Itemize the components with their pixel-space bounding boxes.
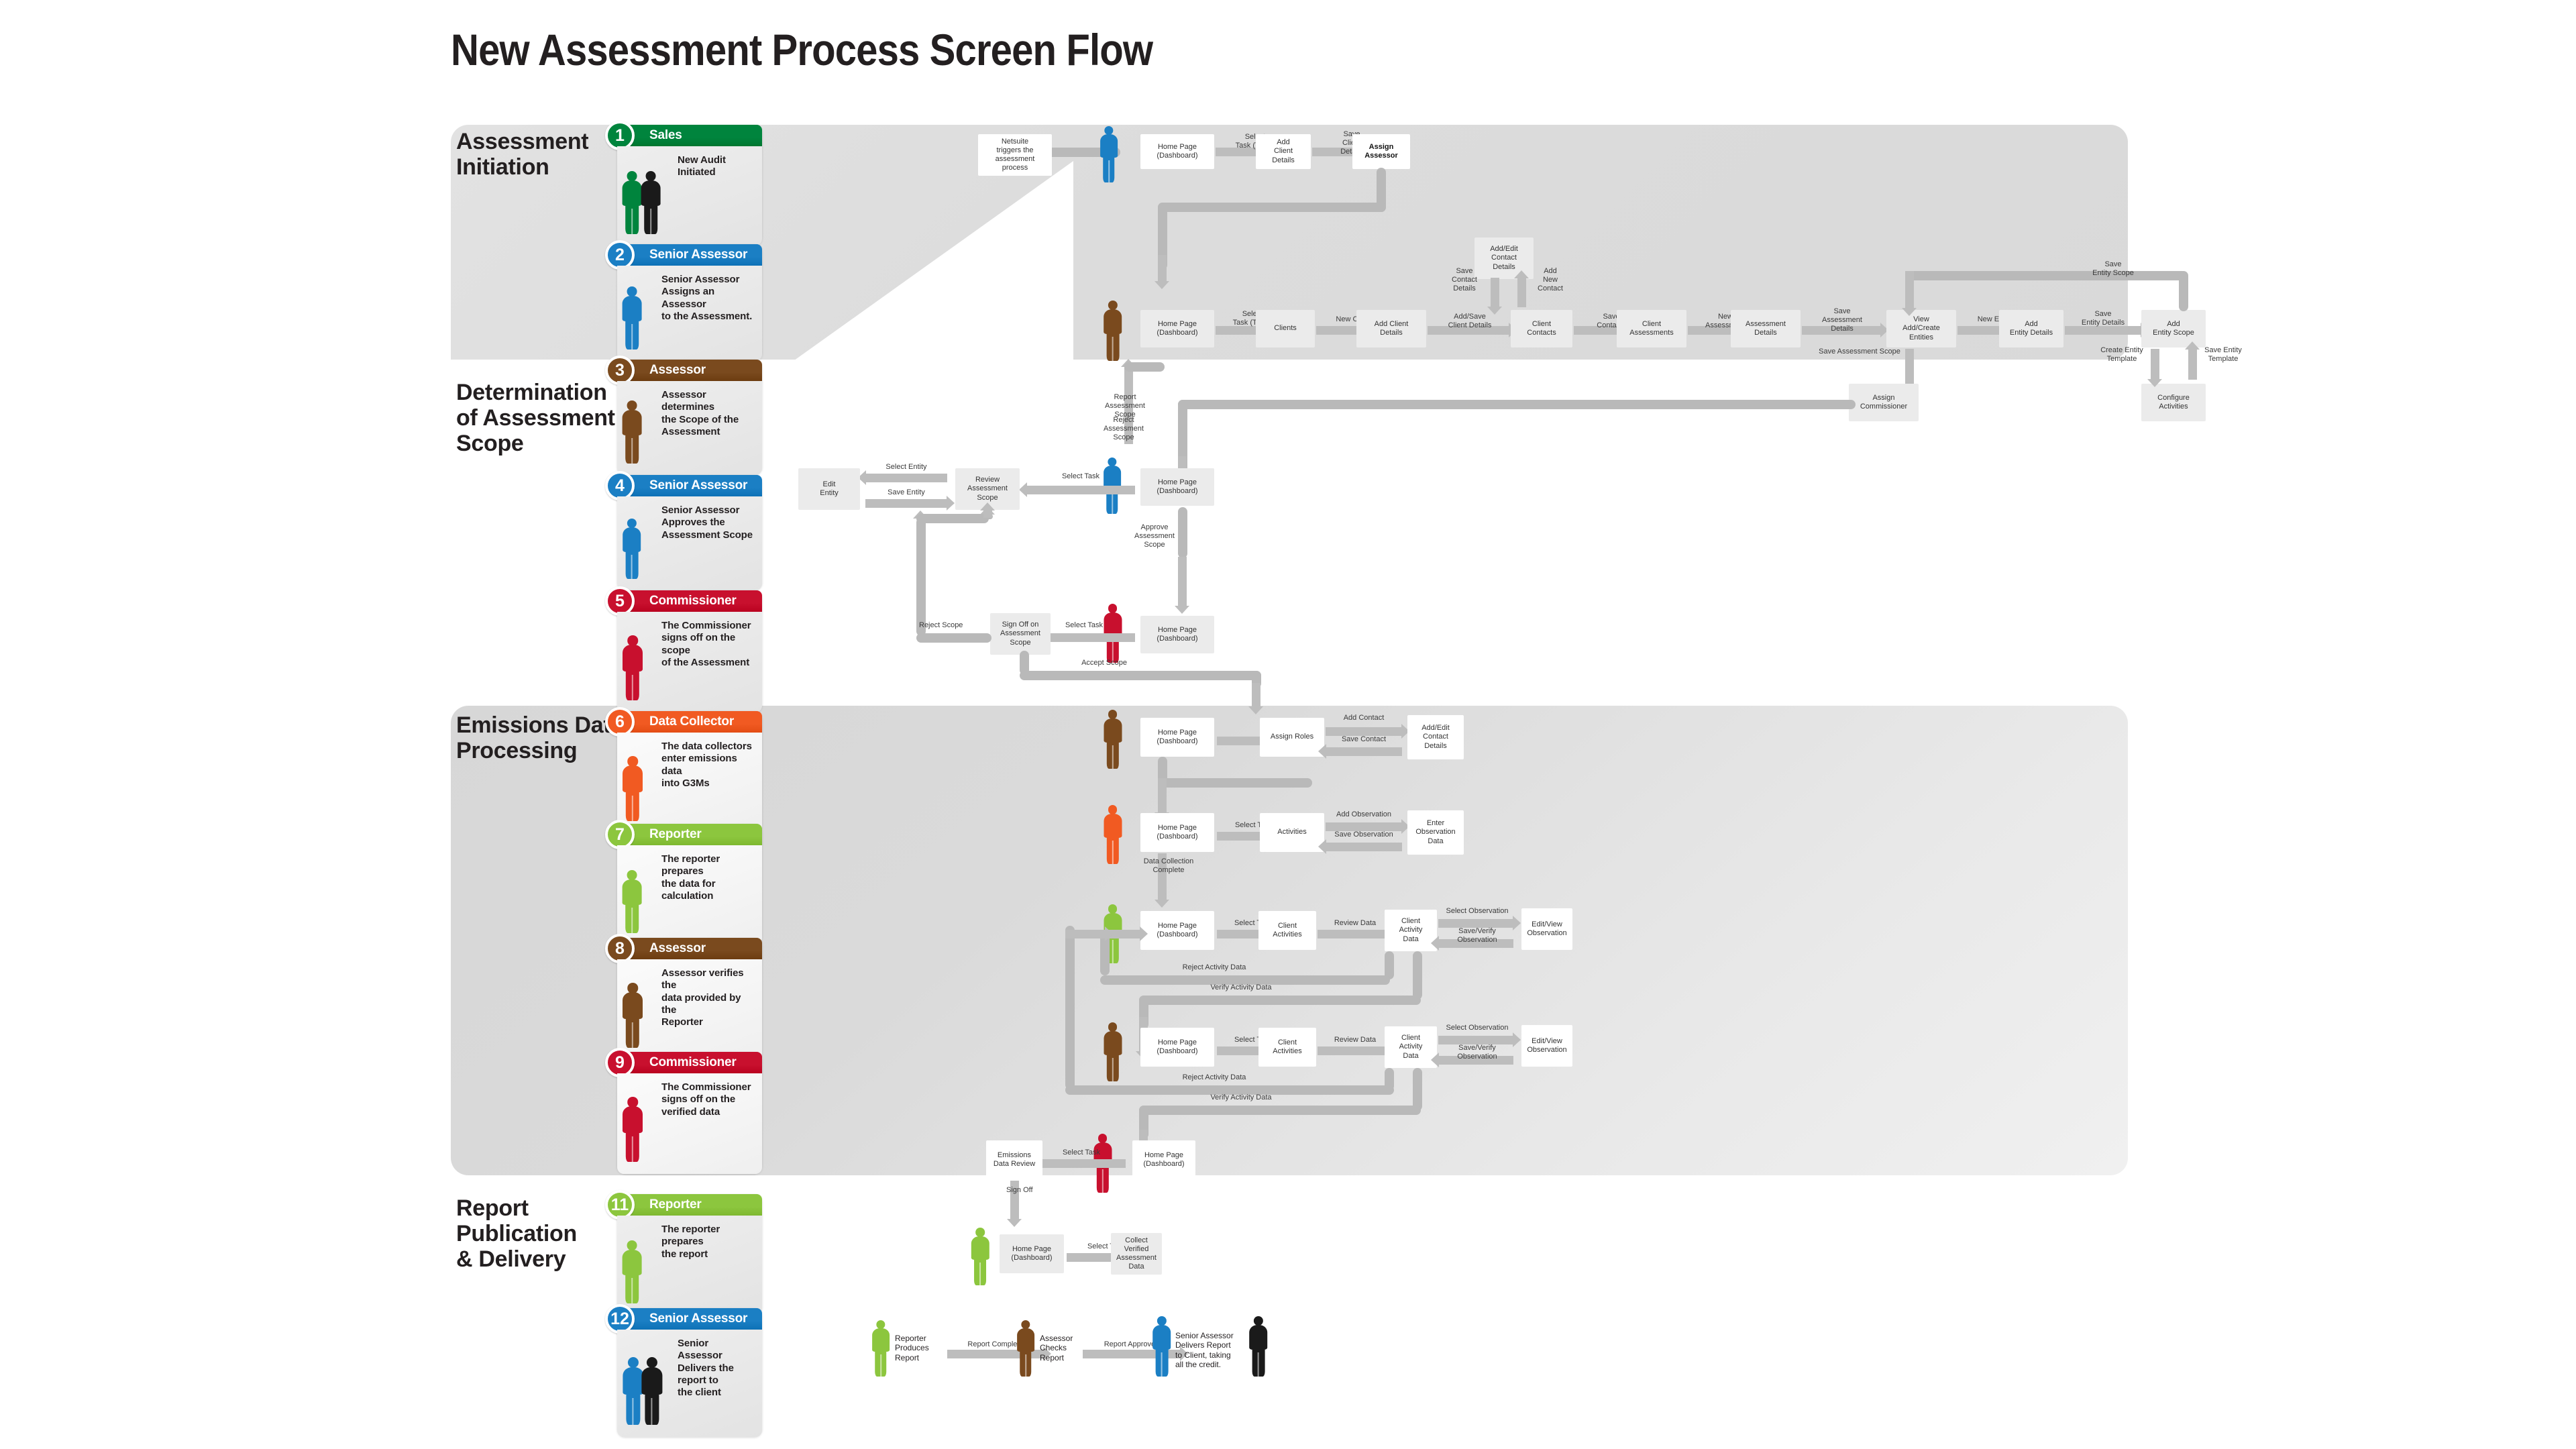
role-figure-slot-3 [623, 389, 661, 468]
edge-label-select-entity: Select Entity [865, 463, 947, 472]
role-card-body-8: Assessor verifies the data provided by t… [617, 959, 762, 1060]
person-legs [626, 1017, 639, 1048]
person-torso [1017, 1328, 1034, 1351]
flow-figure-blue [1152, 1316, 1171, 1381]
person-torso [1104, 718, 1122, 743]
person-figure-lightgreen [623, 870, 642, 934]
flow-node-add-edit-contact-details-2[interactable]: Add/Edit Contact Details [1407, 715, 1464, 759]
edge-label-save-entity: Save Entity [865, 488, 947, 497]
connector-pipe-h [1139, 996, 1421, 1005]
role-title-3: Assessor [649, 363, 706, 378]
role-description-11: The reporter prepares the report [661, 1224, 720, 1260]
connector-arrow-h [1318, 930, 1393, 938]
connector-pipe-h [1178, 400, 1856, 409]
role-description-6: The data collectors enter emissions data… [661, 741, 755, 790]
flow-node-sales-home-page[interactable]: Home Page (Dashboard) [1140, 134, 1214, 169]
flow-figure-blue [1100, 126, 1118, 187]
person-torso [623, 1106, 643, 1133]
role-title-12: Senior Assessor [649, 1311, 747, 1326]
edge-label-add-save-client-details: Add/Save Client Details [1421, 313, 1519, 330]
role-card-6[interactable]: 6 Data Collector The data collectors ent… [617, 711, 762, 833]
edge-label-create-entity-template: Create Entity Template [2093, 346, 2151, 364]
role-card-header-1: 1 Sales [617, 125, 762, 146]
role-title-6: Data Collector [649, 714, 734, 729]
role-card-body-6: The data collectors enter emissions data… [617, 733, 762, 833]
flow-caption-senior-assessor-delivers-report: Senior Assessor Delivers Report to Clien… [1175, 1331, 1253, 1370]
role-card-header-2: 2 Senior Assessor [617, 244, 762, 266]
flow-figure-brown [1017, 1320, 1034, 1381]
edge-label-verify-activity-data-7: Verify Activity Data [1181, 983, 1301, 992]
person-legs [1020, 1350, 1032, 1377]
role-figure-slot-7 [623, 853, 661, 938]
edge-label-data-collection-complete: Data Collection Complete [1134, 857, 1203, 875]
flow-node-emissions-data-review[interactable]: Emissions Data Review [986, 1140, 1042, 1179]
person-head [1157, 1316, 1167, 1326]
flow-node-edit-view-observation-7[interactable]: Edit/View Observation [1521, 908, 1572, 950]
person-legs [645, 1393, 659, 1426]
role-card-12[interactable]: 12 Senior Assessor Senior Assessor Deliv… [617, 1308, 762, 1437]
person-torso [1104, 1031, 1122, 1055]
connector-arrow-v [1158, 255, 1167, 282]
person-legs [1155, 1348, 1168, 1376]
person-figure-brown [1104, 710, 1122, 770]
person-figure-black [641, 171, 661, 235]
role-description-3: Assessor determines the Scope of the Ass… [661, 389, 755, 438]
role-figure-slot-8 [623, 967, 661, 1053]
flow-node-reporter-home-page[interactable]: Home Page (Dashboard) [1140, 911, 1214, 950]
person-figure-green [623, 171, 642, 235]
role-card-body-11: The reporter prepares the report [617, 1216, 762, 1315]
person-figure-black [641, 1357, 662, 1427]
role-card-header-8: 8 Assessor [617, 938, 762, 959]
role-title-1: Sales [649, 128, 682, 143]
person-head [627, 1097, 638, 1108]
connector-pipe-v [1413, 951, 1422, 1000]
role-card-4[interactable]: 4 Senior Assessor Senior Assessor Approv… [617, 475, 762, 590]
flow-node-enter-observation-data[interactable]: Enter Observation Data [1407, 810, 1464, 855]
person-torso [872, 1328, 890, 1351]
connector-arrow-h [865, 474, 947, 482]
role-description-12: Senior Assessor Delivers the report to t… [678, 1338, 755, 1399]
edge-label-reject-activity-data-8: Reject Activity Data [1154, 1073, 1275, 1082]
role-card-header-7: 7 Reporter [617, 824, 762, 845]
flow-node-client-activity-data-8[interactable]: Client Activity Data [1385, 1026, 1437, 1068]
edge-label-save-assessment-scope: Save Assessment Scope [1806, 347, 1913, 356]
edge-label-select-task-3: Select Task [1026, 472, 1135, 481]
connector-arrow-h [2065, 326, 2141, 335]
person-figure-lightgreen [623, 1240, 642, 1305]
person-torso [623, 1250, 642, 1275]
edge-label-save-entity-template: Save Entity Template [2195, 346, 2251, 364]
person-figure-lightgreen [872, 1320, 890, 1378]
edge-label-save-assessment-details: Save Assessment Details [1795, 307, 1889, 333]
role-card-2[interactable]: 2 Senior Assessor Senior Assessor Assign… [617, 244, 762, 361]
role-figure-slot-4 [623, 504, 661, 584]
person-legs [626, 790, 639, 821]
edge-label-add-new-contact: Add New Contact [1527, 267, 1574, 293]
role-title-9: Commissioner [649, 1055, 737, 1070]
person-head [646, 171, 656, 181]
flow-node-data-collector-home-page[interactable]: Home Page (Dashboard) [1140, 813, 1214, 852]
person-legs [625, 550, 638, 578]
person-torso [623, 1367, 643, 1395]
person-torso [1104, 814, 1122, 838]
person-head [1254, 1316, 1263, 1326]
person-head [1108, 301, 1118, 310]
person-figure-blue [623, 1357, 643, 1427]
flow-node-clients[interactable]: Clients [1256, 310, 1315, 347]
edge-label-save-contact-details: Save Contact Details [1436, 267, 1493, 293]
role-description-4: Senior Assessor Approves the Assessment … [661, 504, 753, 541]
connector-arrow-h [1326, 747, 1402, 756]
edge-label-review-data-8: Review Data [1318, 1036, 1393, 1044]
role-description-7: The reporter prepares the data for calcu… [661, 853, 755, 902]
person-head [627, 286, 637, 297]
flow-node-commissioner-data-home-page[interactable]: Home Page (Dashboard) [1132, 1140, 1195, 1179]
flow-figure-orange [1104, 805, 1122, 869]
connector-pipe-h [1124, 362, 1165, 372]
connector-arrow-h [1026, 486, 1135, 494]
person-torso [623, 296, 642, 321]
flow-node-sr-assessor-home-page[interactable]: Home Page (Dashboard) [1140, 468, 1214, 506]
role-card-8[interactable]: 8 Assessor Assessor verifies the data pr… [617, 938, 762, 1060]
flow-node-activities[interactable]: Activities [1260, 813, 1324, 852]
edge-label-sign-off: Sign Off [1006, 1186, 1063, 1195]
role-card-body-3: Assessor determines the Scope of the Ass… [617, 381, 762, 475]
edge-label-reject-activity-data-7: Reject Activity Data [1154, 963, 1275, 972]
role-figure-slot-1 [623, 154, 678, 239]
person-head [627, 400, 637, 411]
person-legs [1106, 332, 1119, 360]
person-legs [626, 1393, 640, 1426]
flow-node-assessment-details[interactable]: Assessment Details [1731, 310, 1801, 347]
role-card-3[interactable]: 3 Assessor Assessor determines the Scope… [617, 360, 762, 475]
flow-node-reporter-collect-home-page[interactable]: Home Page (Dashboard) [1000, 1234, 1064, 1273]
role-title-2: Senior Assessor [649, 248, 747, 262]
role-description-1: New Audit Initiated [678, 154, 726, 179]
person-figure-red [623, 1097, 643, 1164]
person-figure-blue [1152, 1316, 1171, 1378]
role-card-body-12: Senior Assessor Delivers the report to t… [617, 1330, 762, 1437]
edge-label-add-observation: Add Observation [1326, 810, 1402, 819]
connector-pipe-v [2179, 271, 2188, 311]
person-head [627, 171, 637, 181]
page-title: New Assessment Process Screen Flow [451, 24, 1152, 75]
person-figure-brown [1017, 1320, 1034, 1378]
person-figure-lightgreen [971, 1228, 989, 1287]
person-head [627, 983, 638, 994]
flow-node-assign-roles[interactable]: Assign Roles [1260, 718, 1324, 757]
flow-node-client-contacts[interactable]: Client Contacts [1511, 310, 1572, 347]
role-description-2: Senior Assessor Assigns an Assessor to t… [661, 274, 755, 323]
flow-node-view-add-create-entities[interactable]: View Add/Create Entities [1886, 310, 1956, 347]
role-card-7[interactable]: 7 Reporter The reporter prepares the dat… [617, 824, 762, 945]
flow-figure-brown [1104, 301, 1122, 366]
person-torso [1152, 1325, 1171, 1350]
person-legs [626, 903, 639, 932]
person-head [627, 519, 637, 528]
role-card-9[interactable]: 9 Commissioner The Commissioner signs of… [617, 1052, 762, 1174]
flow-figure-black [1249, 1316, 1268, 1381]
person-figure-brown [623, 983, 643, 1050]
role-card-body-2: Senior Assessor Assigns an Assessor to t… [617, 266, 762, 361]
role-figure-slot-6 [623, 741, 661, 826]
flow-figure-brown [1104, 1022, 1122, 1086]
person-torso [641, 180, 661, 206]
role-card-header-3: 3 Assessor [617, 360, 762, 381]
person-head [627, 635, 638, 646]
connector-pipe-h [1158, 203, 1386, 212]
edge-label-approve-assessment-scope: Approve Assessment Scope [1126, 523, 1183, 549]
person-legs [1103, 156, 1115, 182]
connector-arrow-v [1252, 683, 1260, 707]
person-legs [875, 1350, 887, 1377]
role-description-8: Assessor verifies the data provided by t… [661, 967, 755, 1028]
connector-pipe-h [1139, 1106, 1421, 1115]
role-card-body-7: The reporter prepares the data for calcu… [617, 845, 762, 945]
role-card-header-6: 6 Data Collector [617, 711, 762, 733]
flow-node-client-activities-7[interactable]: Client Activities [1258, 911, 1316, 950]
person-legs [1106, 1053, 1118, 1081]
role-title-7: Reporter [649, 827, 702, 842]
role-card-header-4: 4 Senior Assessor [617, 475, 762, 496]
role-card-body-5: The Commissioner signs off on the scope … [617, 612, 762, 712]
role-card-header-9: 9 Commissioner [617, 1052, 762, 1073]
role-title-5: Commissioner [649, 594, 737, 608]
person-legs [645, 204, 658, 233]
role-title-11: Reporter [649, 1197, 702, 1212]
connector-arrow-v [1178, 557, 1187, 606]
edge-label-verify-activity-data-8: Verify Activity Data [1181, 1093, 1301, 1102]
flow-node-edit-view-observation-8[interactable]: Edit/View Observation [1521, 1025, 1572, 1067]
connector-arrow-v [1905, 271, 1914, 309]
edge-label-save-entity-scope: Save Entity Scope [2073, 260, 2153, 278]
role-figure-slot-11 [623, 1224, 661, 1308]
person-torso [623, 410, 642, 435]
person-torso [623, 992, 643, 1019]
person-figure-blue [1100, 126, 1118, 184]
role-card-1[interactable]: 1 Sales New Audit Initiated [617, 125, 762, 246]
connector-pipe-v [1413, 1068, 1422, 1111]
person-legs [626, 433, 639, 463]
flow-node-client-activity-data-7[interactable]: Client Activity Data [1385, 910, 1437, 951]
person-legs [626, 319, 639, 349]
role-figure-slot-5 [623, 620, 661, 706]
connector-arrow-h [1326, 843, 1402, 851]
edge-label-save-entity-details: Save Entity Details [2058, 310, 2148, 327]
edge-label-review-data-7: Review Data [1318, 919, 1393, 928]
person-legs [1106, 836, 1118, 863]
person-figure-brown [1104, 301, 1122, 362]
connector-pipe-v [916, 518, 926, 636]
person-figure-blue [623, 286, 642, 351]
section-label-determination-of-assessment-scope: Determination of Assessment Scope [456, 380, 644, 456]
flow-figure-lightgreen [971, 1228, 989, 1290]
person-figure-red [623, 635, 643, 702]
flow-node-sign-off-assessment-scope[interactable]: Sign Off on Assessment Scope [990, 613, 1051, 655]
edge-label-reject-assessment-scope: Reject Assessment Scope [1095, 416, 1152, 442]
person-head [627, 1240, 637, 1250]
flow-node-client-assessments[interactable]: Client Assessments [1617, 310, 1686, 347]
person-head [627, 870, 637, 880]
person-torso [623, 879, 642, 905]
person-torso [1104, 309, 1122, 334]
role-description-5: The Commissioner signs off on the scope … [661, 620, 755, 669]
person-figure-black [1249, 1316, 1268, 1378]
person-torso [623, 180, 642, 206]
edge-label-select-task-9: Select Task [1037, 1148, 1126, 1157]
flow-node-assign-commissioner[interactable]: Assign Commissioner [1849, 384, 1919, 421]
role-figure-slot-12 [623, 1338, 678, 1430]
person-torso [623, 527, 641, 552]
person-figure-blue [623, 519, 641, 580]
person-figure-orange [1104, 805, 1122, 865]
role-card-11[interactable]: 11 Reporter The reporter prepares the re… [617, 1194, 762, 1315]
connector-arrow-v [1158, 778, 1167, 813]
connector-arrow-h [1065, 930, 1106, 938]
person-legs [1252, 1348, 1265, 1376]
flow-node-assessor-verify-home-page[interactable]: Home Page (Dashboard) [1140, 1028, 1214, 1067]
connector-arrow-h [1318, 1046, 1393, 1055]
edge-label-save-verify-observation-7: Save/Verify Observation [1436, 927, 1519, 945]
role-card-header-5: 5 Commissioner [617, 590, 762, 612]
role-title-4: Senior Assessor [649, 478, 747, 493]
person-legs [1096, 1165, 1108, 1192]
edge-label-accept-scope: Accept Scope [1051, 659, 1158, 667]
role-title-8: Assessor [649, 941, 706, 956]
connector-arrow-h [1037, 1159, 1126, 1168]
person-figure-brown [1104, 1022, 1122, 1083]
connector-arrow-v [1517, 278, 1526, 307]
connector-arrow-h [865, 499, 947, 508]
connector-pipe-v [1065, 926, 1075, 1089]
connector-pipe-h [1020, 671, 1261, 680]
flow-node-add-client-details-1[interactable]: Add Client Details [1256, 134, 1311, 169]
flow-node-configure-activities[interactable]: Configure Activities [2141, 384, 2206, 421]
edge-label-add-contact: Add Contact [1326, 714, 1402, 722]
person-torso [623, 645, 643, 672]
connector-pipe-h [1158, 778, 1312, 788]
connector-arrow-v [983, 510, 992, 518]
person-torso [971, 1236, 989, 1260]
person-legs [626, 1273, 639, 1303]
flow-node-assessor-home-page[interactable]: Home Page (Dashboard) [1140, 310, 1214, 347]
person-legs [974, 1258, 986, 1285]
person-torso [641, 1367, 662, 1395]
flow-node-commissioner-home-page[interactable]: Home Page (Dashboard) [1140, 616, 1214, 653]
person-head [627, 756, 638, 767]
role-figure-slot-2 [623, 274, 661, 354]
person-figure-brown [623, 400, 642, 465]
role-card-body-9: The Commissioner signs off on the verifi… [617, 1073, 762, 1174]
person-legs [626, 669, 639, 700]
flow-node-netsuite-trigger[interactable]: Netsuite triggers the assessment process [978, 134, 1052, 176]
person-figure-orange [623, 756, 643, 823]
connector-pipe-h [916, 514, 989, 523]
edge-label-reject-scope: Reject Scope [919, 621, 986, 630]
person-head [628, 1357, 639, 1368]
edge-label-save-verify-observation-8: Save/Verify Observation [1436, 1044, 1519, 1061]
flow-node-collect-verified-assessment-data[interactable]: Collect Verified Assessment Data [1111, 1233, 1162, 1275]
role-card-header-11: 11 Reporter [617, 1194, 762, 1216]
person-legs [1106, 741, 1118, 768]
flow-figure-lightgreen [872, 1320, 890, 1381]
edge-label-select-observation-7: Select Observation [1436, 907, 1519, 916]
person-legs [626, 204, 639, 233]
connector-pipe-h [916, 633, 991, 643]
role-figure-slot-9 [623, 1081, 661, 1167]
role-card-body-1: New Audit Initiated [617, 146, 762, 246]
flow-figure-brown [1104, 710, 1122, 773]
person-torso [623, 765, 643, 792]
flow-node-client-activities-8[interactable]: Client Activities [1258, 1028, 1316, 1067]
person-torso [1249, 1325, 1268, 1350]
role-card-5[interactable]: 5 Commissioner The Commissioner signs of… [617, 590, 762, 712]
edge-label-save-contact: Save Contact [1326, 735, 1402, 744]
flow-node-add-client-details-2[interactable]: Add Client Details [1356, 310, 1426, 347]
flow-node-edit-entity[interactable]: Edit Entity [798, 468, 860, 510]
flow-node-assign-roles-home-page[interactable]: Home Page (Dashboard) [1140, 718, 1214, 757]
edge-label-select-observation-8: Select Observation [1436, 1024, 1519, 1032]
flow-node-assign-assessor[interactable]: Assign Assessor [1352, 134, 1410, 169]
connector-arrow-v [2151, 349, 2159, 380]
role-card-header-12: 12 Senior Assessor [617, 1308, 762, 1330]
role-card-body-4: Senior Assessor Approves the Assessment … [617, 496, 762, 590]
role-description-9: The Commissioner signs off on the verifi… [661, 1081, 751, 1118]
edge-label-save-observation: Save Observation [1326, 830, 1402, 839]
person-torso [1100, 134, 1118, 157]
person-legs [626, 1131, 639, 1162]
flow-node-add-entity-details[interactable]: Add Entity Details [1999, 310, 2063, 347]
person-head [647, 1357, 657, 1368]
